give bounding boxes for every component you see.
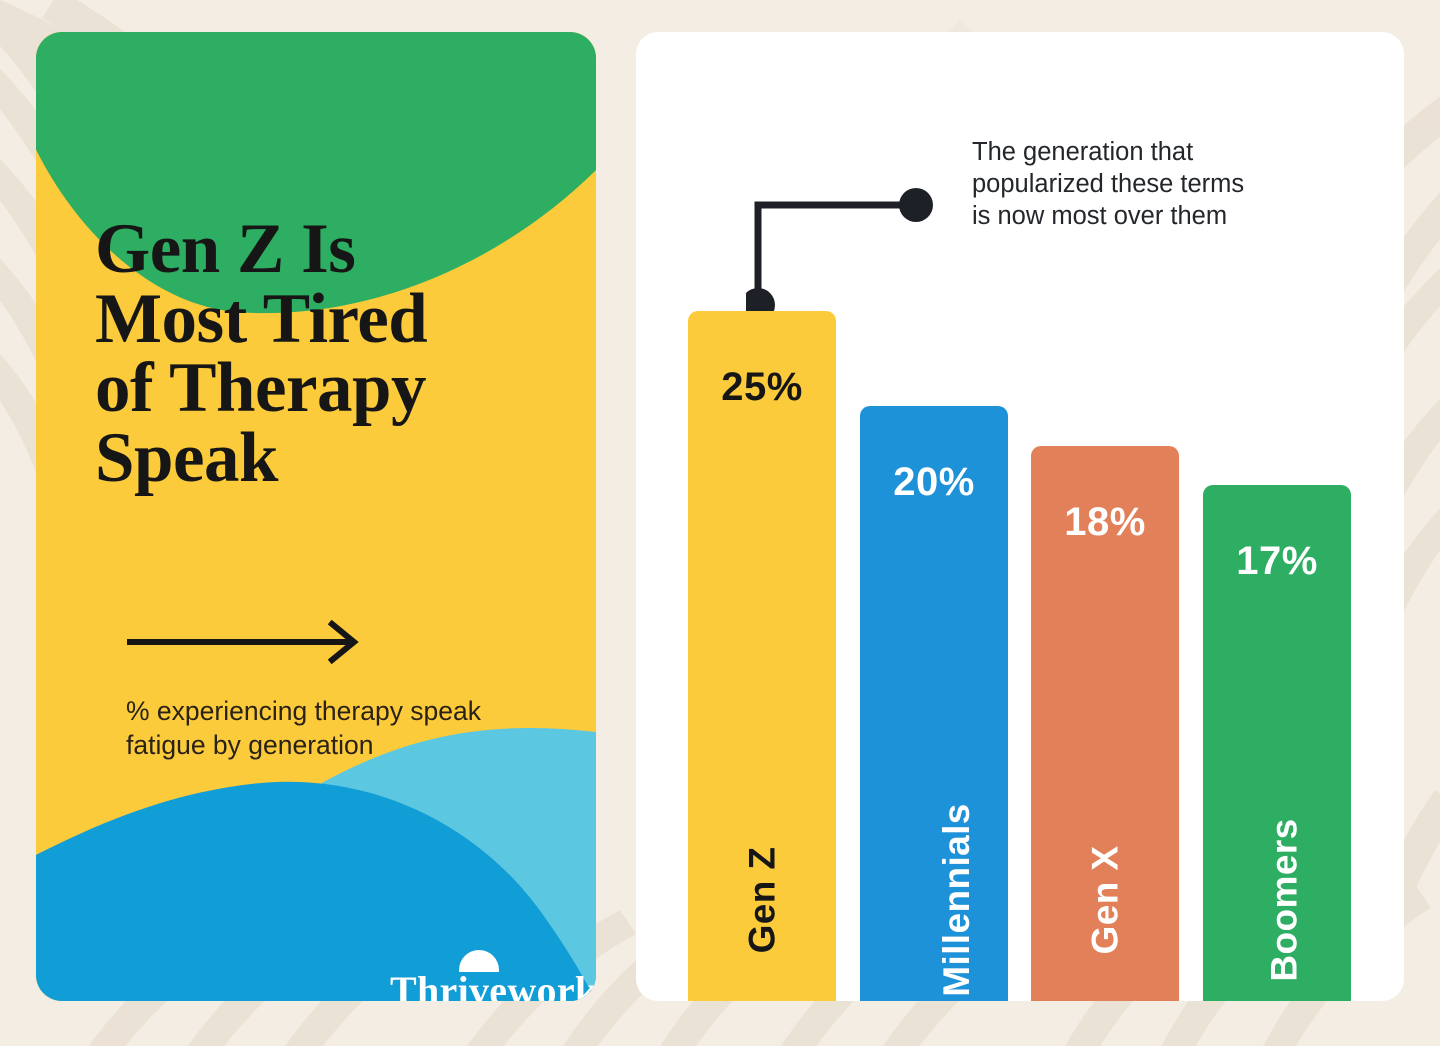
bar-chart: 25%Gen Z20%Millennials18%Gen X17%Boomers [636, 32, 1404, 1001]
bar-category-label: Gen Z [688, 879, 836, 921]
title-panel: Gen Z Is Most Tired of Therapy Speak % e… [36, 32, 596, 1001]
bar-millennials: 20%Millennials [860, 406, 1008, 1001]
bar-value-label: 18% [1031, 500, 1179, 545]
page-title: Gen Z Is Most Tired of Therapy Speak [95, 215, 565, 493]
chart-subtitle: % experiencing therapy speak fatigue by … [126, 694, 566, 763]
chart-panel: The generation that popularized these te… [636, 32, 1404, 1001]
thriveworks-logo: Thriveworks [376, 942, 596, 1001]
logo-wordmark: Thriveworks [390, 967, 596, 1001]
bar-value-label: 17% [1203, 539, 1351, 584]
bar-category-label: Millennials [860, 879, 1008, 921]
bar-gen-x: 18%Gen X [1031, 446, 1179, 1001]
bar-value-label: 20% [860, 460, 1008, 505]
bar-category-label: Gen X [1031, 879, 1179, 921]
bar-boomers: 17%Boomers [1203, 485, 1351, 1001]
right-arrow-icon [124, 620, 364, 664]
bar-category-label: Boomers [1203, 879, 1351, 921]
bar-value-label: 25% [688, 365, 836, 410]
bar-gen-z: 25%Gen Z [688, 311, 836, 1001]
